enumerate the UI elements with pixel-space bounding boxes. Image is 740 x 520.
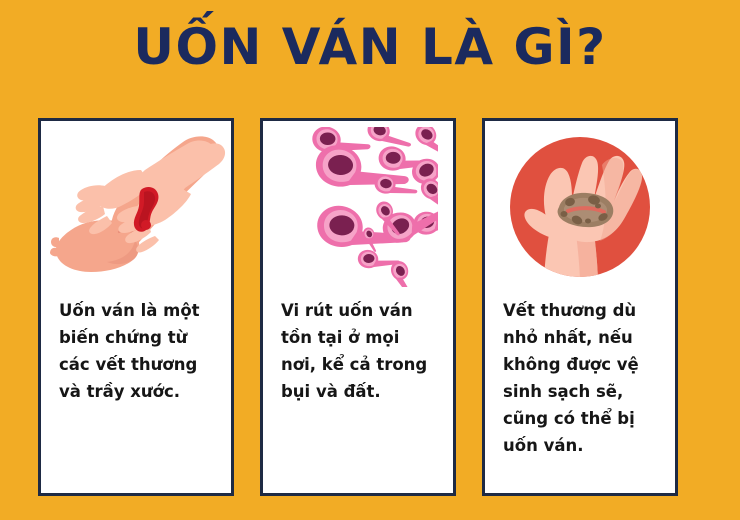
panel-wounded-leg: Uốn ván là một biến chứng từ các vết thư… bbox=[38, 118, 234, 496]
infographic-poster: UỐN VÁN LÀ GÌ? bbox=[0, 0, 740, 520]
page-title: UỐN VÁN LÀ GÌ? bbox=[0, 10, 740, 84]
panel-caption: Uốn ván là một biến chứng từ các vết thư… bbox=[59, 297, 213, 405]
wounded-leg-hands-illustration bbox=[41, 121, 231, 293]
panel-caption: Vi rút uốn ván tồn tại ở mọi nơi, kể cả … bbox=[281, 297, 435, 405]
panel-dirty-hand: Vết thương dù nhỏ nhất, nếu không được v… bbox=[482, 118, 678, 496]
dirty-hand-wound-icon bbox=[502, 129, 658, 285]
tetanus-bacteria-illustration bbox=[263, 121, 453, 293]
tetanus-bacteria-icon bbox=[278, 127, 438, 287]
dirty-hand-wound-illustration bbox=[485, 121, 675, 293]
panel-bacteria: Vi rút uốn ván tồn tại ở mọi nơi, kể cả … bbox=[260, 118, 456, 496]
wounded-leg-hands-icon bbox=[45, 126, 227, 288]
panel-caption: Vết thương dù nhỏ nhất, nếu không được v… bbox=[503, 297, 657, 459]
panel-row: Uốn ván là một biến chứng từ các vết thư… bbox=[38, 118, 678, 496]
